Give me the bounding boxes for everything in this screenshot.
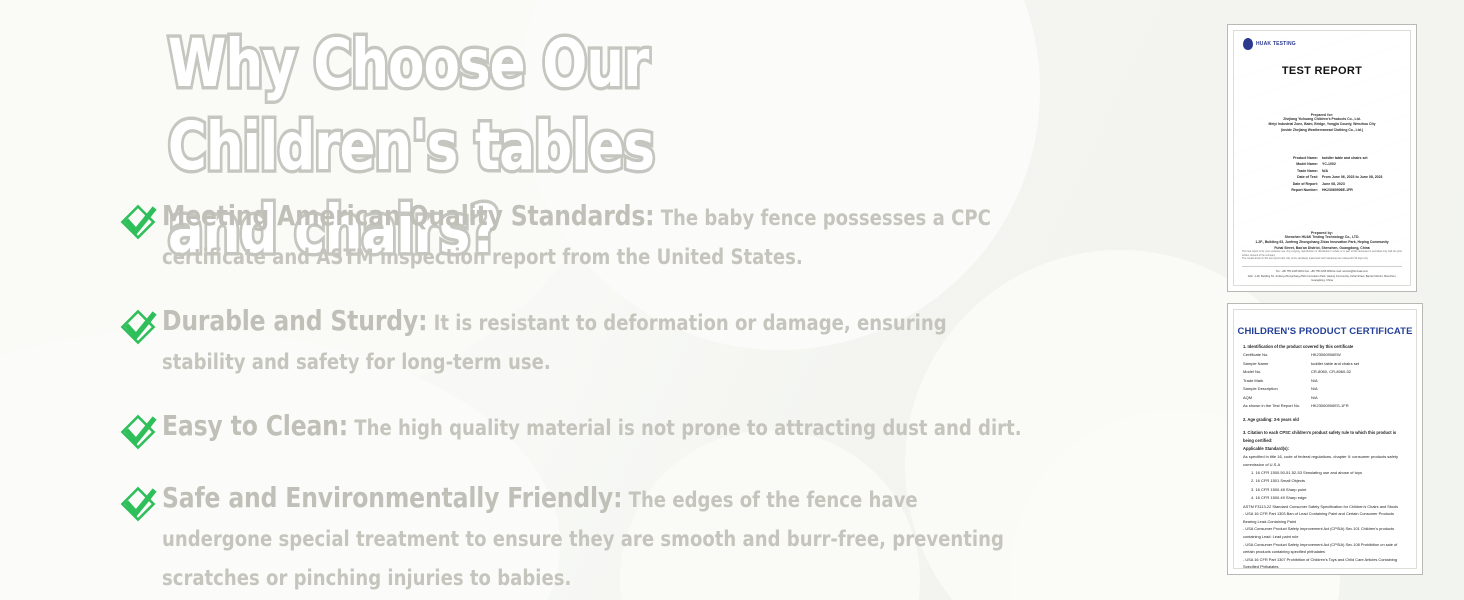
cpc-standard-item: 2. 16 CFR 1501 Small Objects [1243, 477, 1407, 485]
feature-list: Meeting American Quality Standards: The … [118, 196, 1193, 600]
cpc-title: CHILDREN'S PRODUCT CERTIFICATE [1234, 326, 1416, 337]
test-report-title: TEST REPORT [1234, 65, 1410, 77]
cpc-field-row: Model No.CR-8060, CR-8060-02 [1243, 368, 1407, 377]
cpc-standard-note: - USA Consumer Product Safety Improvemen… [1243, 541, 1407, 556]
field-label: Sample Description [1243, 385, 1311, 394]
cpc-section-1-heading: 1. Identification of the product covered… [1243, 343, 1407, 351]
feature-lead: Meeting American Quality Standards: [162, 199, 654, 232]
feature-text: Safe and Environmentally Friendly: The e… [162, 478, 1028, 598]
field-label: As shown in the Test Report No. [1243, 402, 1311, 411]
field-value: HK23060906ES-1FR [1311, 402, 1407, 411]
feature-lead: Easy to Clean: [162, 409, 348, 442]
field-label: Certificate No. [1243, 351, 1311, 360]
disclaimer-line: The results shown in this test report re… [1242, 257, 1402, 261]
cpc-section-2-value: 3-6 years old [1274, 417, 1299, 422]
cpc-standard-item: 1. 16 CFR 1500.50-51.52-53 Simulating us… [1243, 469, 1407, 477]
cpc-standard-note: - USA 16 CFR Part 1307 Prohibition of Ch… [1243, 556, 1407, 569]
field-label: Trade Mark [1243, 377, 1311, 386]
field-row: Report Number:HK23060906E-1FR [1274, 187, 1411, 193]
prepared-by-block: Prepared by: Shenzhen HUAK Testing Techn… [1234, 231, 1410, 251]
huak-logo-text: HUAK TESTING [1256, 41, 1296, 47]
check-diamond-icon [118, 307, 162, 349]
check-diamond-icon [118, 202, 162, 244]
field-label: Model No. [1243, 368, 1311, 377]
feature-text: Durable and Sturdy: It is resistant to d… [162, 301, 1028, 382]
cpc-certificate-thumbnail[interactable]: CHILDREN'S PRODUCT CERTIFICATE 1. Identi… [1227, 303, 1423, 575]
field-value: HK23060906E-1FR [1322, 187, 1411, 193]
field-label: Report Number: [1274, 187, 1322, 193]
field-label: AQM [1243, 394, 1311, 403]
cpc-field-row: Sample DescriptionN/A [1243, 385, 1407, 394]
test-report-thumbnail[interactable]: HUAK TESTING TEST REPORT Prepared for: Z… [1227, 24, 1417, 292]
cpc-field-row: As shown in the Test Report No.HK2306090… [1243, 402, 1407, 411]
disclaimer-block: This test report is for your exclusive u… [1242, 250, 1402, 261]
field-value: N/A [1311, 385, 1407, 394]
cpc-standard-note: - USA 16 CFR Part 1303 Ban of Lead Conta… [1243, 510, 1407, 525]
cpc-standard-item: 4. 16 CFR 1500.49 Sharp edge [1243, 494, 1407, 502]
check-diamond-icon [118, 412, 162, 454]
cpc-standard-note: - USA Consumer Product Safety Improvemen… [1243, 525, 1407, 540]
huak-seal-icon [1243, 38, 1253, 50]
field-value: toddler table and chairs set [1311, 360, 1407, 369]
feature-lead: Durable and Sturdy: [162, 304, 427, 337]
test-report-page: HUAK TESTING TEST REPORT Prepared for: Z… [1233, 30, 1411, 286]
cpc-field-row: Certificate No.HK23060906EW [1243, 351, 1407, 360]
feature-item: Easy to Clean: The high quality material… [118, 406, 1193, 454]
prepared-for-line: (inside Zhejiang Weathervanead Clothing … [1234, 128, 1410, 133]
cpc-section-3-heading: 3. Citation to each CPSC children's prod… [1243, 429, 1407, 445]
field-value: N/A [1311, 394, 1407, 403]
footer-block: Tel.: +86 755 2345 9001 Fax: +86 755 234… [1242, 270, 1402, 283]
feature-item: Safe and Environmentally Friendly: The e… [118, 478, 1193, 598]
feature-text: Meeting American Quality Standards: The … [162, 196, 1028, 277]
cpc-field-row: Sample Nametoddler table and chairs set [1243, 360, 1407, 369]
huak-logo: HUAK TESTING [1243, 38, 1296, 50]
cpc-section-2: 2. Age grading: 3-6 years old [1243, 416, 1407, 424]
feature-body: The high quality material is not prone t… [348, 416, 1022, 441]
footer-divider [1242, 266, 1402, 267]
cpc-certificate-page: CHILDREN'S PRODUCT CERTIFICATE 1. Identi… [1233, 309, 1417, 569]
cpc-section-3-sub: Applicable Standard(s): [1243, 445, 1407, 453]
cpc-section-3-intro: As specified in title 16, code of federa… [1243, 453, 1407, 469]
field-value: N/A [1311, 377, 1407, 386]
cpc-field-row: Trade MarkN/A [1243, 377, 1407, 386]
feature-item: Durable and Sturdy: It is resistant to d… [118, 301, 1193, 382]
cpc-body: 1. Identification of the product covered… [1243, 343, 1407, 569]
prepared-for-block: Prepared for: Zhejiang Yichuang Children… [1234, 113, 1410, 133]
promo-banner: Why Choose Our Children's tables and cha… [0, 0, 1464, 600]
cpc-section-2-heading: 2. Age grading: [1243, 417, 1273, 422]
feature-item: Meeting American Quality Standards: The … [118, 196, 1193, 277]
test-report-fields: Product Name:toddler table and chairs se… [1274, 155, 1411, 193]
feature-lead: Safe and Environmentally Friendly: [162, 481, 622, 514]
cpc-standard-note: ASTM F3113-22 Standard Consumer Safety S… [1243, 503, 1407, 511]
cpc-field-row: AQMN/A [1243, 394, 1407, 403]
field-label: Sample Name [1243, 360, 1311, 369]
cpc-standard-item: 3. 16 CFR 1500.48 Sharp point [1243, 486, 1407, 494]
field-value: CR-8060, CR-8060-02 [1311, 368, 1407, 377]
feature-text: Easy to Clean: The high quality material… [162, 406, 1028, 448]
check-diamond-icon [118, 484, 162, 526]
footer-line: Add.: 1-2F, Building 63, Junfeng Zhongch… [1242, 275, 1402, 283]
disclaimer-line: This test report is for your exclusive u… [1242, 250, 1402, 257]
field-value: HK23060906EW [1311, 351, 1407, 360]
